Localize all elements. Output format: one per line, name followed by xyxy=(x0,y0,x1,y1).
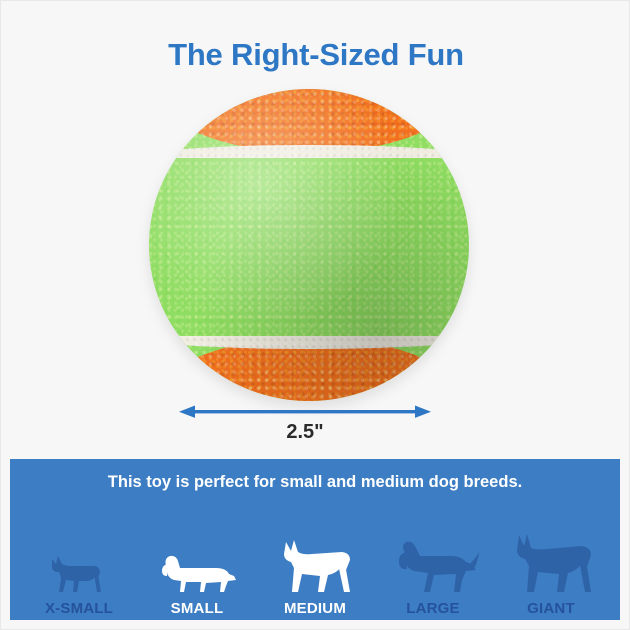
size-guide-caption: This toy is perfect for small and medium… xyxy=(10,473,620,492)
size-guide-band: This toy is perfect for small and medium… xyxy=(10,459,620,620)
dog-greatdane-icon xyxy=(507,526,595,594)
measurement-label: 2.5" xyxy=(179,421,431,444)
size-label-medium: MEDIUM xyxy=(284,600,346,617)
size-label-x-small: X-SMALL xyxy=(45,600,113,617)
dog-chihuahua-icon xyxy=(48,526,110,594)
measurement-arrow xyxy=(179,405,431,419)
size-item-large: LARGE xyxy=(374,505,492,617)
ball-shading xyxy=(149,89,469,401)
page-title: The Right-Sized Fun xyxy=(1,37,630,73)
size-guide-list: X-SMALL SMALL MEDIUM xyxy=(10,505,620,617)
dog-terrier-icon xyxy=(272,526,358,594)
size-label-small: SMALL xyxy=(171,600,224,617)
size-item-medium: MEDIUM xyxy=(256,505,374,617)
size-label-large: LARGE xyxy=(406,600,460,617)
size-label-giant: GIANT xyxy=(527,600,575,617)
dog-setter-icon xyxy=(386,526,480,594)
product-infographic: The Right-Sized Fun 2.5" This toy is per… xyxy=(0,0,630,630)
tennis-ball xyxy=(149,89,469,401)
dog-dachshund-icon xyxy=(156,526,238,594)
size-item-giant: GIANT xyxy=(492,505,610,617)
size-item-small: SMALL xyxy=(138,505,256,617)
size-item-x-small: X-SMALL xyxy=(20,505,138,617)
product-image xyxy=(149,89,479,404)
